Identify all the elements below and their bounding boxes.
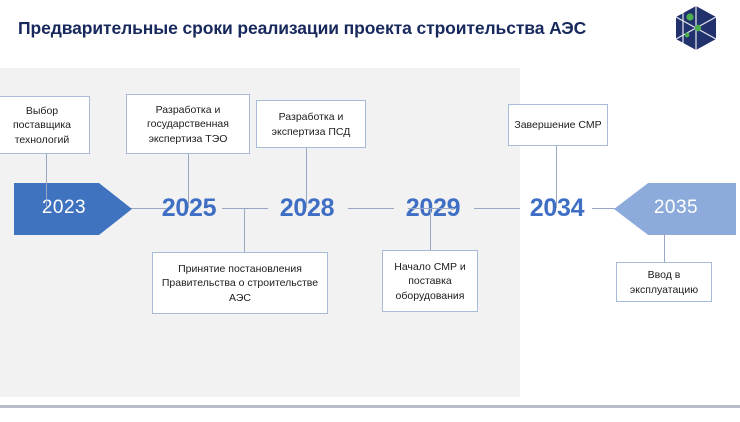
callout-text: Разработка и государственная экспертиза …	[131, 103, 245, 147]
connector-stem-2025	[188, 154, 189, 208]
axis-tick-2029	[408, 208, 454, 209]
connector-stem-2023	[46, 154, 47, 208]
page-title: Предварительные сроки реализации проекта…	[18, 18, 648, 39]
callout-box-ekspertiza-teo[interactable]: Разработка и государственная экспертиза …	[126, 94, 250, 154]
callout-box-vvod-v-ekspluataciyu[interactable]: Ввод в эксплуатацию	[616, 262, 712, 302]
callout-text: Принятие постановления Правительства о с…	[157, 262, 323, 306]
callout-text: Завершение СМР	[513, 118, 603, 133]
milestone-year-2023[interactable]: 2023	[22, 192, 106, 224]
connector-stem-2028	[306, 148, 307, 208]
callout-text: Ввод в эксплуатацию	[621, 268, 707, 297]
slide-canvas: Предварительные сроки реализации проекта…	[0, 0, 740, 419]
callout-box-vybor-postavshchika[interactable]: Выбор поставщика технологий	[0, 96, 90, 154]
hexagon-logo	[672, 4, 720, 52]
callout-box-ekspertiza-psd[interactable]: Разработка и экспертиза ПСД	[256, 100, 366, 148]
connector-stem-postanovlenie	[244, 208, 245, 252]
milestone-year-2028[interactable]: 2028	[270, 192, 344, 224]
callout-text: Начало СМР и поставка оборудования	[387, 260, 473, 304]
callout-box-postanovlenie[interactable]: Принятие постановления Правительства о с…	[152, 252, 328, 314]
connector-stem-2029-below	[430, 208, 431, 250]
callout-box-nachalo-smr[interactable]: Начало СМР и поставка оборудования	[382, 250, 478, 312]
axis-segment-3	[348, 208, 394, 209]
callout-text: Разработка и экспертиза ПСД	[261, 110, 361, 139]
connector-stem-2034	[556, 146, 557, 208]
milestone-year-2035[interactable]: 2035	[636, 192, 716, 224]
milestone-year-2025[interactable]: 2025	[152, 192, 226, 224]
axis-segment-4	[474, 208, 520, 209]
bottom-chrome-strip	[0, 405, 740, 422]
connector-stem-2035-below	[664, 233, 665, 262]
callout-text: Выбор поставщика технологий	[0, 104, 85, 148]
milestone-year-2034[interactable]: 2034	[520, 192, 594, 224]
callout-box-zavershenie-smr[interactable]: Завершение СМР	[508, 104, 608, 146]
axis-tick-2025-2028	[222, 208, 268, 209]
